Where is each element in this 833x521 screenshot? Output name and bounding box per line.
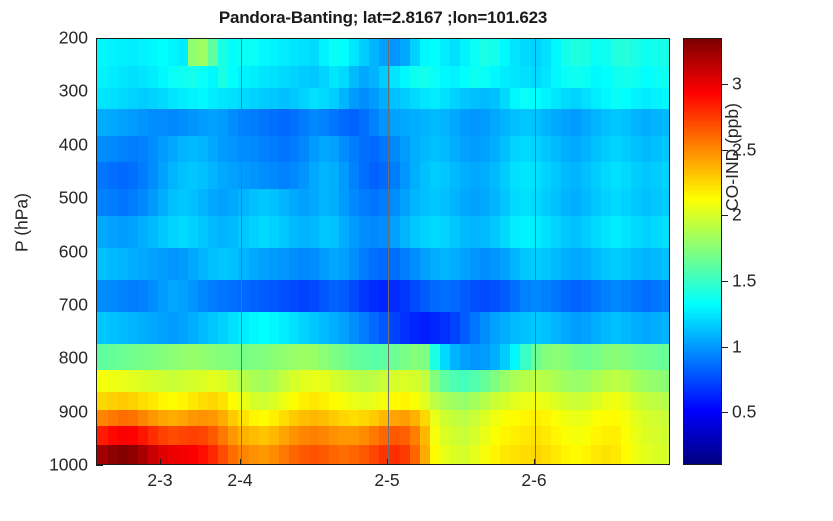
y-axis-tick-labels: 2003004005006007008009001000	[0, 0, 88, 521]
x-tick-label-2-5: 2-5	[352, 470, 422, 491]
colorbar-tick-label-1: 1	[732, 336, 742, 357]
x-tick-mark-2-3	[160, 459, 161, 465]
x-tick-mark-2-5	[387, 459, 388, 465]
y-tick-label-600: 600	[2, 241, 88, 262]
y-tick-label-300: 300	[2, 81, 88, 102]
y-tick-label-800: 800	[2, 348, 88, 369]
x-tick-mark-2-6	[534, 459, 535, 465]
colorbar	[683, 38, 722, 465]
y-tick-label-700: 700	[2, 294, 88, 315]
colorbar-tick-mark-1	[722, 347, 728, 348]
heatmap-image	[97, 39, 670, 465]
y-tick-label-900: 900	[2, 401, 88, 422]
colorbar-tick-mark-1.5	[722, 281, 728, 282]
x-tick-mark-2-4	[240, 459, 241, 465]
x-tick-label-2-4: 2-4	[205, 470, 275, 491]
colorbar-tick-mark-0.5	[722, 412, 728, 413]
y-tick-label-500: 500	[2, 188, 88, 209]
x-tick-label-2-6: 2-6	[499, 470, 569, 491]
colorbar-label: CO-IND (ppb)	[722, 62, 743, 252]
heatmap-plot-area	[96, 38, 670, 465]
colorbar-gradient	[683, 38, 722, 465]
page-title: Pandora-Banting; lat=2.8167 ;lon=101.623	[96, 8, 670, 28]
y-tick-label-400: 400	[2, 134, 88, 155]
y-tick-label-200: 200	[2, 28, 88, 49]
y-tick-mark-1000	[96, 465, 103, 466]
colorbar-tick-label-0.5: 0.5	[732, 402, 756, 423]
y-tick-label-1000: 1000	[2, 455, 88, 476]
matlab-figure: Pandora-Banting; lat=2.8167 ;lon=101.623…	[0, 0, 833, 521]
colorbar-image	[684, 39, 721, 464]
colorbar-tick-label-1.5: 1.5	[732, 271, 756, 292]
x-tick-label-2-3: 2-3	[125, 470, 195, 491]
